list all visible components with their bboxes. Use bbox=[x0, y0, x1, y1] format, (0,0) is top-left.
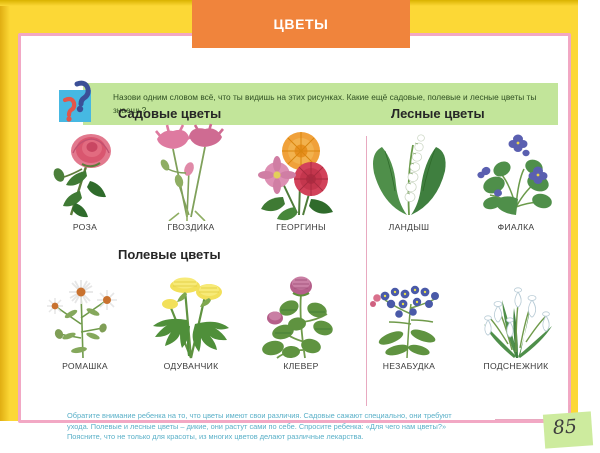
page-right-margin bbox=[578, 0, 600, 453]
lily-of-the-valley-illustration bbox=[356, 123, 462, 221]
flower-card-daisy[interactable]: РОМАШКА bbox=[32, 262, 138, 371]
footer-line-2: ухода. Полевые и лесные цветы – дикие, о… bbox=[43, 422, 563, 433]
snowdrop-illustration bbox=[463, 262, 569, 360]
footer-note: Обратите внимание ребенка на то, что цве… bbox=[43, 411, 563, 443]
page-title-banner: ЦВЕТЫ bbox=[192, 0, 410, 48]
carnation-illustration bbox=[138, 123, 244, 221]
footer-line-1: Обратите внимание ребенка на то, что цве… bbox=[43, 411, 563, 422]
clover-illustration bbox=[248, 262, 354, 360]
rose-illustration bbox=[32, 123, 138, 221]
flower-label: РОМАШКА bbox=[32, 361, 138, 371]
flower-card-rose[interactable]: РОЗА bbox=[32, 123, 138, 232]
flower-card-forget-me-not[interactable]: НЕЗАБУДКА bbox=[356, 262, 462, 371]
question-mark-icon bbox=[57, 78, 103, 124]
flower-label: РОЗА bbox=[32, 222, 138, 232]
dahlia-illustration bbox=[248, 123, 354, 221]
section-heading-field: Полевые цветы bbox=[118, 247, 221, 262]
violet-illustration bbox=[463, 123, 569, 221]
forget-me-not-illustration bbox=[356, 262, 462, 360]
flower-label: ПОДСНЕЖНИК bbox=[463, 361, 569, 371]
flower-card-snowdrop[interactable]: ПОДСНЕЖНИК bbox=[463, 262, 569, 371]
flower-card-carnation[interactable]: ГВОЗДИКА bbox=[138, 123, 244, 232]
page-background-shade bbox=[0, 0, 10, 423]
flower-card-dandelion[interactable]: ОДУВАНЧИК bbox=[138, 262, 244, 371]
flower-label: КЛЕВЕР bbox=[248, 361, 354, 371]
worksheet-page: ЦВЕТЫ Назови одним словом всё, что ты ви… bbox=[0, 0, 600, 453]
flower-label: ГВОЗДИКА bbox=[138, 222, 244, 232]
flower-card-violet[interactable]: ФИАЛКА bbox=[463, 123, 569, 232]
flower-label: НЕЗАБУДКА bbox=[356, 361, 462, 371]
flower-label: ОДУВАНЧИК bbox=[138, 361, 244, 371]
section-heading-garden: Садовые цветы bbox=[118, 106, 221, 121]
section-heading-forest: Лесные цветы bbox=[391, 106, 485, 121]
flower-label: ГЕОРГИНЫ bbox=[248, 222, 354, 232]
page-number-tag: 85 bbox=[543, 411, 593, 448]
flower-card-dahlia[interactable]: ГЕОРГИНЫ bbox=[248, 123, 354, 232]
footer-line-3: Поясните, что не только для красоты, из … bbox=[43, 432, 563, 443]
flower-label: ФИАЛКА bbox=[463, 222, 569, 232]
flower-label: ЛАНДЫШ bbox=[356, 222, 462, 232]
flower-card-clover[interactable]: КЛЕВЕР bbox=[248, 262, 354, 371]
flower-card-lily-of-the-valley[interactable]: ЛАНДЫШ bbox=[356, 123, 462, 232]
page-title: ЦВЕТЫ bbox=[274, 16, 329, 32]
dandelion-illustration bbox=[138, 262, 244, 360]
daisy-illustration bbox=[32, 262, 138, 360]
page-number: 85 bbox=[552, 415, 578, 439]
